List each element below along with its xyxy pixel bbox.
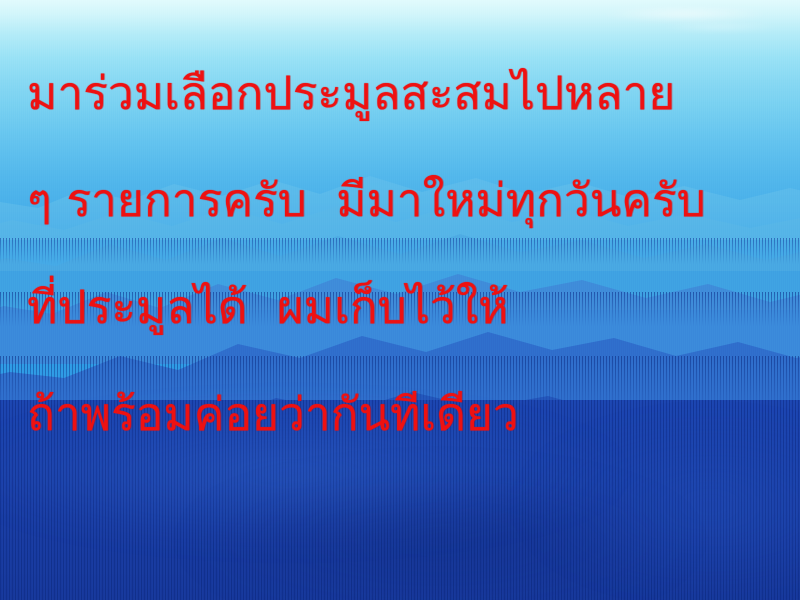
caption-overlay: มาร่วมเลือกประมูลสะสมไปหลาย ๆ รายการครับ… [0,0,800,600]
caption-line-2: ๆ รายการครับ มีมาใหม่ทุกวันครับ [27,147,800,254]
caption-line-3: ที่ประมูลได้ ผมเก็บไว้ให้ [27,254,800,361]
caption-line-1: มาร่วมเลือกประมูลสะสมไปหลาย [27,40,800,147]
caption-line-4: ถ้าพร้อมค่อยว่ากันทีเดียว [27,361,800,468]
image-canvas: มาร่วมเลือกประมูลสะสมไปหลาย ๆ รายการครับ… [0,0,800,600]
